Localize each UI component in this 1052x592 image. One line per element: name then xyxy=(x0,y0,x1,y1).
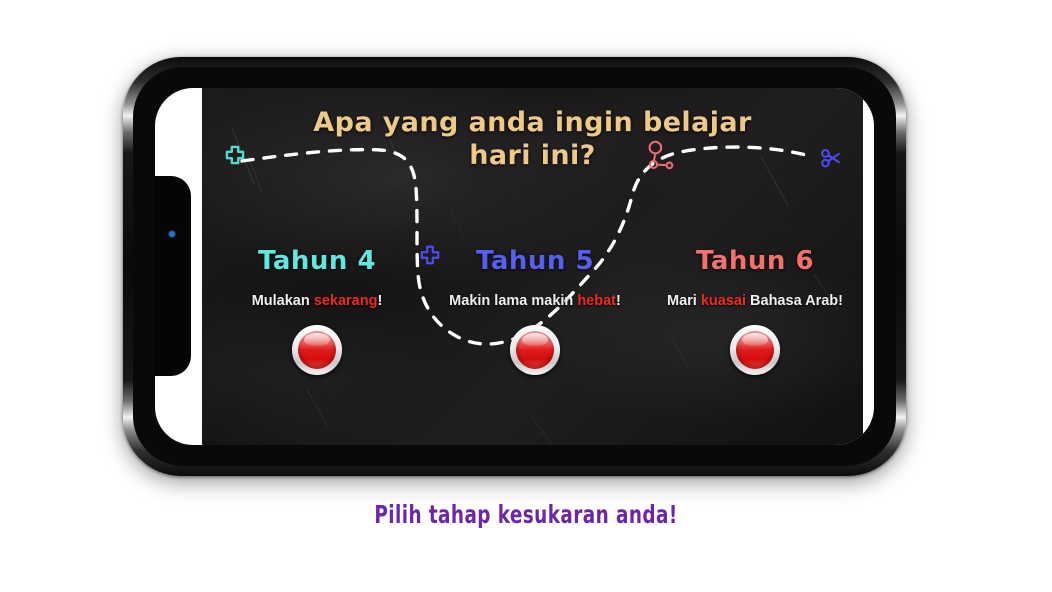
phone-notch xyxy=(155,176,191,376)
page-title: Apa yang anda ingin belajar hari ini? xyxy=(202,106,863,172)
level-sub-post-0: ! xyxy=(377,293,382,309)
level-button-wrap-1 xyxy=(430,325,640,375)
level-card-tahun-4[interactable]: Tahun 4 Mulakan sekarang! xyxy=(212,246,422,375)
app-chalkboard-screen: Apa yang anda ingin belajar hari ini? xyxy=(202,88,863,445)
level-sub-post-2: Bahasa Arab! xyxy=(746,293,843,309)
front-camera-icon xyxy=(169,231,175,237)
select-tahun-4-button[interactable] xyxy=(292,325,342,375)
page-title-line-1: Apa yang anda ingin belajar xyxy=(202,106,863,139)
level-sub-pre-1: Makin lama makin xyxy=(449,293,577,309)
page-caption: Pilih tahap kesukaran anda! xyxy=(95,500,958,529)
level-button-wrap-2 xyxy=(650,325,860,375)
phone-screen: Apa yang anda ingin belajar hari ini? xyxy=(155,88,874,445)
level-sub-highlight-0: sekarang xyxy=(314,293,378,309)
level-button-wrap-0 xyxy=(212,325,422,375)
phone-bezel: Apa yang anda ingin belajar hari ini? xyxy=(133,67,896,466)
level-subtitle-tahun-4: Mulakan sekarang! xyxy=(212,292,422,311)
level-card-tahun-6[interactable]: Tahun 6 Mari kuasai Bahasa Arab! xyxy=(650,246,860,375)
level-subtitle-tahun-6: Mari kuasai Bahasa Arab! xyxy=(650,292,860,311)
level-sub-highlight-2: kuasai xyxy=(701,293,746,309)
screenshot-stage: Apa yang anda ingin belajar hari ini? xyxy=(0,0,1052,592)
level-title-tahun-6: Tahun 6 xyxy=(650,246,860,276)
level-card-tahun-5[interactable]: Tahun 5 Makin lama makin hebat! xyxy=(430,246,640,375)
select-tahun-6-button[interactable] xyxy=(730,325,780,375)
phone-device-frame: Apa yang anda ingin belajar hari ini? xyxy=(123,57,906,476)
level-sub-pre-0: Mulakan xyxy=(252,293,314,309)
level-title-tahun-5: Tahun 5 xyxy=(430,246,640,276)
level-sub-highlight-1: hebat xyxy=(577,293,616,309)
level-sub-post-1: ! xyxy=(616,293,621,309)
level-subtitle-tahun-5: Makin lama makin hebat! xyxy=(430,292,640,311)
page-title-line-2: hari ini? xyxy=(202,139,863,172)
level-sub-pre-2: Mari xyxy=(667,293,701,309)
select-tahun-5-button[interactable] xyxy=(510,325,560,375)
level-title-tahun-4: Tahun 4 xyxy=(212,246,422,276)
